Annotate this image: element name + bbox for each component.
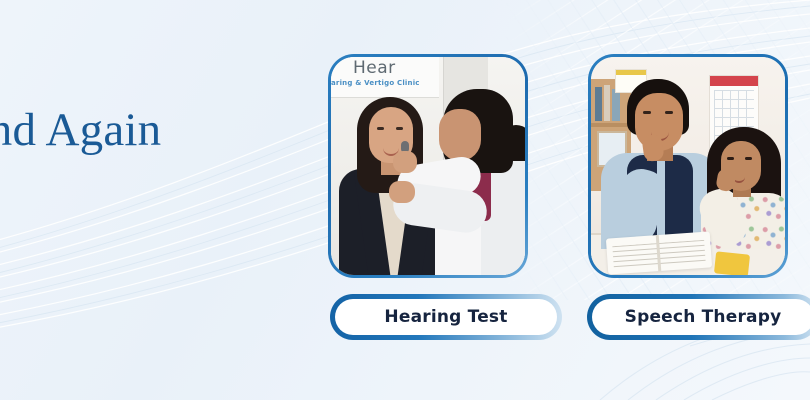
speech-therapy-button[interactable]: Speech Therapy — [587, 294, 810, 340]
photo-card-hearing-test[interactable]: Hear aring & Vertigo Clinic — [328, 54, 528, 278]
hero-banner: u e Sound Again Hear aring & Vertigo Cli… — [0, 0, 810, 400]
headline-line-1: u — [0, 62, 161, 104]
clinic-sign-main-text: Hear — [353, 58, 396, 78]
photo-card-speech-therapy[interactable] — [588, 54, 788, 278]
clinic-sign-sub-text: aring & Vertigo Clinic — [331, 79, 420, 87]
headline-line-2: e Sound Again — [0, 106, 161, 156]
photo-card-inner: Hear aring & Vertigo Clinic — [331, 57, 525, 275]
page-title: u e Sound Again — [0, 62, 161, 156]
photo-card-inner — [591, 57, 785, 275]
hearing-test-photo: Hear aring & Vertigo Clinic — [331, 57, 525, 275]
speech-therapy-photo — [591, 57, 785, 275]
hearing-test-button[interactable]: Hearing Test — [330, 294, 562, 340]
speech-therapy-button-label: Speech Therapy — [625, 307, 782, 327]
clinic-sign: Hear aring & Vertigo Clinic — [331, 57, 439, 98]
hearing-test-button-label: Hearing Test — [384, 307, 507, 327]
button-face: Speech Therapy — [592, 299, 810, 335]
button-face: Hearing Test — [335, 299, 557, 335]
